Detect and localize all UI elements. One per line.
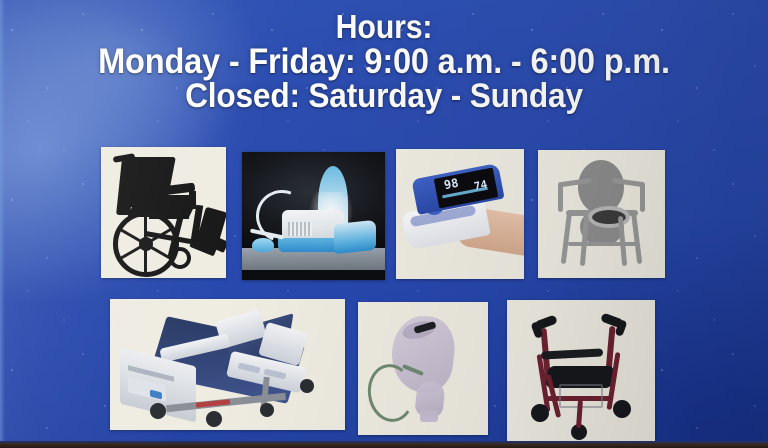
hours-heading-block: Hours: Monday - Friday: 9:00 a.m. - 6:00… [0,10,768,114]
photo-tile-oxygen-mask [358,302,488,435]
photo-tile-hospital-bed [110,299,345,430]
bottom-edge-shadow [0,441,768,448]
photo-tile-commode-chair [538,150,665,278]
store-hours-sign: Hours: Monday - Friday: 9:00 a.m. - 6:00… [0,0,768,448]
nebulizer-illustration [242,152,385,280]
hospital-bed-illustration [110,299,345,430]
oximeter-spo2-value: 98 [443,176,460,193]
wheelchair-illustration [101,147,226,278]
pulse-oximeter-illustration: 98 74 [396,149,524,279]
photo-tile-pulse-oximeter: 98 74 [396,149,524,279]
heading-line-weekday-hours: Monday - Friday: 9:00 a.m. - 6:00 p.m. [27,44,741,80]
photo-tile-rollator-walker [507,300,655,448]
left-edge-highlight [0,0,5,448]
oxygen-mask-illustration [358,302,488,435]
heading-line-hours: Hours: [31,10,738,44]
commode-chair-illustration [538,150,665,278]
photo-tile-wheelchair [101,147,226,278]
photo-tile-nebulizer [242,152,385,280]
heading-line-closed-days: Closed: Saturday - Sunday [27,79,741,114]
rollator-walker-illustration [507,300,655,448]
